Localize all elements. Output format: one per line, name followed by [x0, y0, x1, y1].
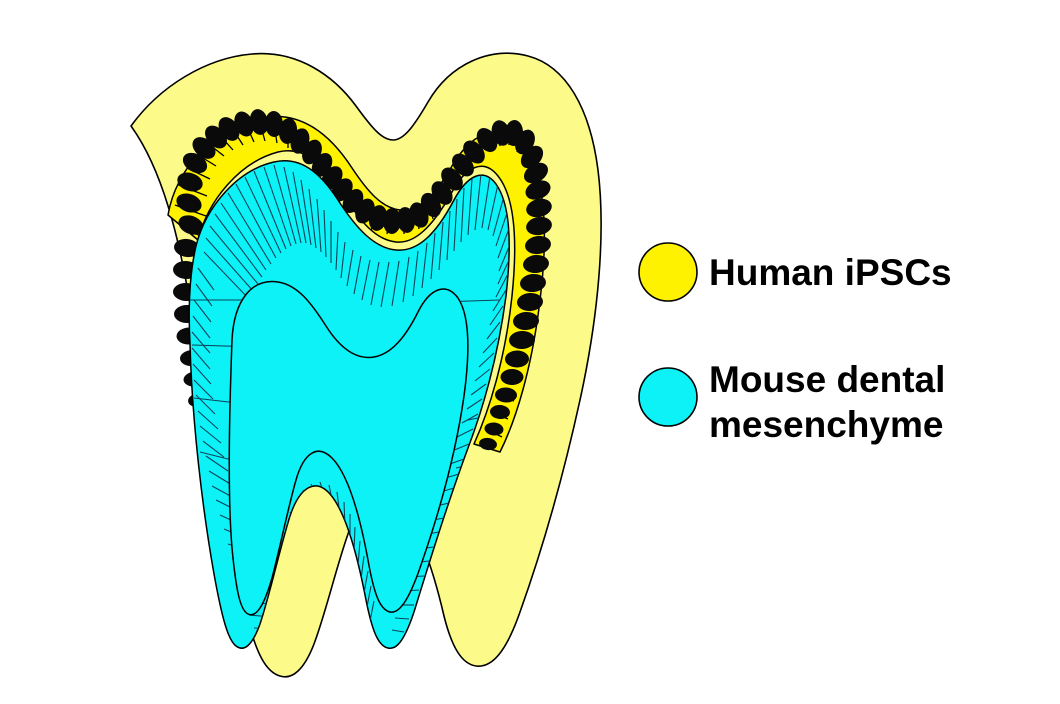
figure-root: Human iPSCs Mouse dental mesenchyme: [0, 0, 1060, 704]
legend-label-mouse-mesenchyme-line1: Mouse dental: [709, 359, 945, 400]
legend-swatch-human-ipscs: [639, 243, 697, 301]
nucleus: [501, 369, 524, 385]
legend-label-mouse-mesenchyme-line2: mesenchyme: [709, 404, 943, 445]
legend-item-mouse-dental-mesenchyme[interactable]: Mouse dental mesenchyme: [639, 359, 945, 445]
legend-item-human-ipscs[interactable]: Human iPSCs: [639, 243, 952, 301]
legend-swatch-mouse-mesenchyme: [639, 368, 697, 426]
legend-label-human-ipscs: Human iPSCs: [709, 252, 952, 293]
tooth-diagram-canvas: Human iPSCs Mouse dental mesenchyme: [0, 0, 1060, 704]
legend: Human iPSCs Mouse dental mesenchyme: [639, 243, 952, 445]
